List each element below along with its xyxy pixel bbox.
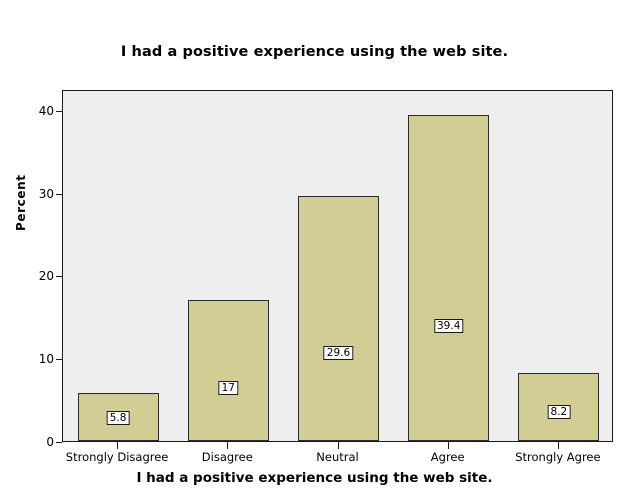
x-tick-mark xyxy=(117,442,118,449)
x-tick-label: Agree xyxy=(431,450,465,464)
x-axis-title: I had a positive experience using the we… xyxy=(0,470,629,486)
bar-value-label: 8.2 xyxy=(548,405,571,419)
y-tick-label: 30 xyxy=(39,187,54,201)
bar-value-label: 5.8 xyxy=(107,411,130,425)
y-tick-label: 0 xyxy=(46,435,54,449)
bar-value-label: 39.4 xyxy=(434,319,463,333)
bar xyxy=(188,300,269,441)
bar-slot: 29.6 xyxy=(283,91,393,441)
x-tick-label: Strongly Agree xyxy=(515,450,600,464)
x-tick-mark xyxy=(448,442,449,449)
bar-slot: 17 xyxy=(173,91,283,441)
x-tick-label: Strongly Disagree xyxy=(66,450,169,464)
x-tick-mark xyxy=(558,442,559,449)
bar xyxy=(408,115,489,441)
y-axis: 010203040 xyxy=(0,90,62,442)
y-tick-label: 40 xyxy=(39,104,54,118)
bars-layer: 5.81729.639.48.2 xyxy=(63,91,612,441)
chart-title: I had a positive experience using the we… xyxy=(0,44,629,60)
bar-value-label: 17 xyxy=(219,381,238,395)
x-tick-mark xyxy=(227,442,228,449)
x-tick-label: Neutral xyxy=(316,450,358,464)
x-tick-mark xyxy=(338,442,339,449)
bar-slot: 39.4 xyxy=(394,91,504,441)
y-tick-label: 10 xyxy=(39,352,54,366)
plot-area: 5.81729.639.48.2 xyxy=(62,90,613,442)
y-tick-label: 20 xyxy=(39,269,54,283)
x-tick-label: Disagree xyxy=(202,450,253,464)
x-axis: Strongly DisagreeDisagreeNeutralAgreeStr… xyxy=(62,442,613,468)
bar-value-label: 29.6 xyxy=(324,346,353,360)
bar-chart: I had a positive experience using the we… xyxy=(0,0,629,504)
bar xyxy=(298,196,379,441)
bar-slot: 5.8 xyxy=(63,91,173,441)
bar-slot: 8.2 xyxy=(504,91,614,441)
